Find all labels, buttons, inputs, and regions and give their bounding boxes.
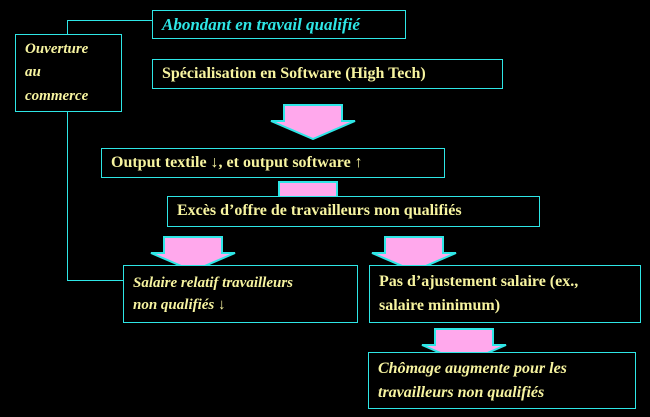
node-chomage-line-1: Chômage augmente pour les — [378, 360, 567, 377]
node-abondant-label: Abondant en travail qualifié — [153, 14, 405, 36]
node-output-label: Output textile ↓, et output software ↑ — [102, 153, 444, 173]
node-output-textile-software[interactable]: Output textile ↓, et output software ↑ — [101, 148, 445, 178]
node-ouverture-line-3: commerce — [25, 88, 88, 104]
connector-ouverture-abondant-horizontal — [67, 20, 153, 21]
node-ouverture-line-2: au — [25, 64, 41, 80]
node-pas-ajustement-line-1: Pas d’ajustement salaire (ex., — [379, 273, 578, 290]
node-pas-ajustement-label: Pas d’ajustement salaire (ex., salaire m… — [370, 270, 640, 318]
node-ouverture-line-1: Ouverture — [25, 41, 88, 57]
node-chomage-line-2: travailleurs non qualifiés — [378, 384, 544, 401]
node-exces-offre-travailleurs[interactable]: Excès d’offre de travailleurs non qualif… — [167, 196, 540, 227]
connector-ouverture-salaire-horizontal — [67, 280, 123, 281]
node-chomage-augmente[interactable]: Chômage augmente pour les travailleurs n… — [368, 352, 636, 409]
connector-ouverture-salaire-vertical — [67, 111, 68, 281]
node-ouverture-label: Ouverture au commerce — [16, 38, 121, 108]
node-ouverture-au-commerce[interactable]: Ouverture au commerce — [15, 34, 122, 112]
node-salaire-label: Salaire relatif travailleurs non qualifi… — [124, 272, 357, 317]
connector-ouverture-abondant-vertical — [67, 20, 68, 35]
arrow-specialisation-to-output — [270, 104, 356, 140]
node-abondant-en-travail-qualifie[interactable]: Abondant en travail qualifié — [152, 10, 406, 39]
node-chomage-label: Chômage augmente pour les travailleurs n… — [369, 357, 635, 405]
node-salaire-relatif-travailleurs[interactable]: Salaire relatif travailleurs non qualifi… — [123, 265, 358, 323]
node-exces-label: Excès d’offre de travailleurs non qualif… — [168, 201, 539, 221]
diagram-canvas: Ouverture au commerce Abondant en travai… — [0, 0, 650, 417]
node-specialisation-label: Spécialisation en Software (High Tech) — [153, 64, 502, 84]
node-pas-ajustement-line-2: salaire minimum) — [379, 297, 500, 314]
node-salaire-line-1: Salaire relatif travailleurs — [133, 275, 293, 291]
node-specialisation-software[interactable]: Spécialisation en Software (High Tech) — [152, 59, 503, 89]
node-salaire-line-2: non qualifiés ↓ — [133, 297, 226, 313]
node-pas-ajustement-salaire[interactable]: Pas d’ajustement salaire (ex., salaire m… — [369, 265, 641, 323]
